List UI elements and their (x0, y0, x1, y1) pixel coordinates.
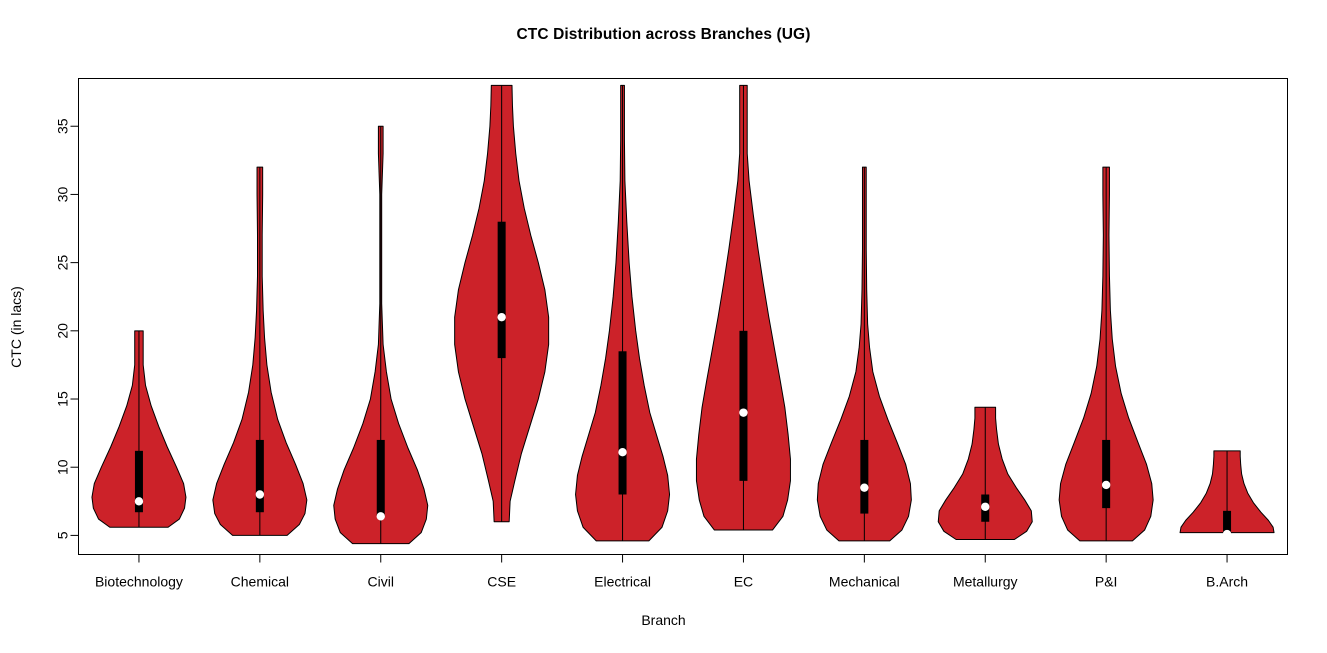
y-tick-label: 30 (55, 186, 71, 202)
y-tick-label: 5 (55, 531, 71, 539)
violin-median-marker (618, 448, 626, 456)
x-tick-label-b-arch: B.Arch (1206, 574, 1248, 590)
violin-ec[interactable] (696, 85, 790, 530)
violin-iqr-box (619, 351, 627, 494)
violin-median-marker (377, 512, 385, 520)
violin-median-marker (1223, 530, 1231, 538)
violin-iqr-box (256, 440, 264, 512)
violin-chemical[interactable] (213, 167, 307, 535)
x-tick-label-electrical: Electrical (594, 574, 651, 590)
violin-iqr-box (860, 440, 868, 514)
x-tick-label-biotechnology: Biotechnology (95, 574, 183, 590)
x-tick-label-cse: CSE (487, 574, 516, 590)
y-tick-label: 10 (55, 459, 71, 475)
x-tick-label-p-i: P&I (1095, 574, 1118, 590)
y-tick-label: 15 (55, 391, 71, 407)
x-tick-label-ec: EC (734, 574, 753, 590)
x-tick-label-civil: Civil (368, 574, 394, 590)
violin-iqr-box (377, 440, 385, 516)
violin-median-marker (860, 483, 868, 491)
violin-median-marker (497, 313, 505, 321)
violin-plot-figure: CTC Distribution across Branches (UG) CT… (0, 0, 1327, 653)
x-axis-ticks: BiotechnologyChemicalCivilCSEElectricalE… (95, 555, 1248, 590)
violin-median-marker (256, 490, 264, 498)
violin-b-arch[interactable] (1180, 451, 1274, 538)
violin-electrical[interactable] (576, 85, 670, 541)
x-tick-label-mechanical: Mechanical (829, 574, 900, 590)
violin-median-marker (135, 497, 143, 505)
x-tick-label-metallurgy: Metallurgy (953, 574, 1018, 590)
x-tick-label-chemical: Chemical (231, 574, 289, 590)
violin-median-marker (981, 503, 989, 511)
violin-cse[interactable] (455, 85, 549, 521)
violin-series-group (92, 85, 1274, 543)
y-tick-label: 20 (55, 323, 71, 339)
violin-p-i[interactable] (1059, 167, 1153, 541)
violin-median-marker (1102, 481, 1110, 489)
plot-canvas: 5101520253035 BiotechnologyChemicalCivil… (0, 0, 1327, 653)
violin-iqr-box (498, 222, 506, 358)
y-tick-label: 35 (55, 118, 71, 134)
violin-median-marker (739, 408, 747, 416)
violin-iqr-box (1102, 440, 1110, 508)
y-tick-label: 25 (55, 255, 71, 271)
violin-biotechnology[interactable] (92, 331, 186, 527)
y-axis-ticks: 5101520253035 (55, 118, 79, 539)
violin-civil[interactable] (334, 126, 428, 543)
violin-metallurgy[interactable] (938, 407, 1032, 539)
violin-iqr-box (739, 331, 747, 481)
violin-mechanical[interactable] (817, 167, 911, 541)
